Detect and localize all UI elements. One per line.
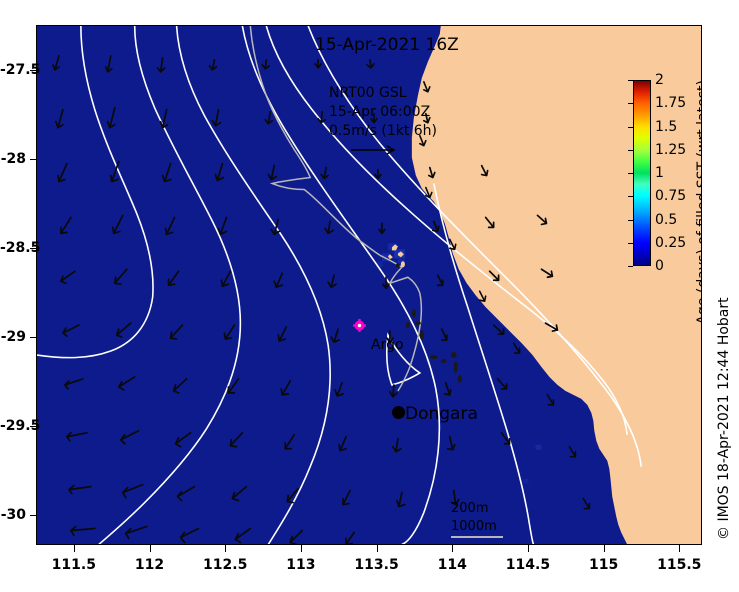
colorbar-tick-label: 1.25 [655,142,686,158]
x-axis-label: 115 [589,557,618,573]
colorbar-tick-label: 1.5 [655,119,677,135]
vector-legend-line-2: 15-Apr 06:00Z [329,103,437,122]
right-arrow-icon [349,143,409,157]
colorbar-tick-label: 0.25 [655,235,686,251]
depth-legend-200m: 200m [451,500,497,518]
x-axis-label: 112.5 [203,557,247,573]
y-axis-label: -29.5 [0,418,26,434]
colorbar-tick-label: 0.5 [655,212,677,228]
vector-legend-line-1: NRT00 GSL [329,84,437,103]
colorbar-tick [628,243,633,244]
colorbar-tick [628,80,633,81]
x-axis-tick [301,545,302,552]
colorbar-tick [628,220,633,221]
argo-label: Argo [371,337,404,353]
x-axis-tick [150,545,151,552]
city-dot-icon [392,406,405,419]
colorbar-tick-label: 1 [655,165,664,181]
colorbar-title: Age (days) of filled SST (wrt latest) [695,80,702,325]
colorbar-tick [628,150,633,151]
x-axis-tick [604,545,605,552]
x-axis-label: 114 [438,557,467,573]
vector-scale-legend: NRT00 GSL 15-Apr 06:00Z 0.5m/s (1kt 6h) [329,84,437,163]
map-page: 15-Apr-2021 16Z NRT00 GSL 15-Apr 06:00Z … [0,0,739,592]
colorbar-tick-label: 0.75 [655,188,686,204]
x-axis-label: 112 [135,557,164,573]
colorbar-tick [628,266,633,267]
colorbar-tick [628,127,633,128]
colorbar-tick [628,196,633,197]
y-axis-label: -28.5 [0,240,26,256]
x-axis-label: 113 [286,557,315,573]
y-axis-tick [30,159,37,160]
colorbar-tick [628,103,633,104]
dongara-label: Dongara [405,404,478,424]
argo-float-marker-icon [353,319,366,332]
y-axis-label: -28 [0,151,26,167]
credit-text: © IMOS 18-Apr-2021 12:44 Hobart [716,297,732,540]
x-axis-tick [528,545,529,552]
x-axis-tick [377,545,378,552]
map-plot-area[interactable]: 15-Apr-2021 16Z NRT00 GSL 15-Apr 06:00Z … [36,25,702,545]
x-axis-tick [452,545,453,552]
y-axis-label: -27.5 [0,62,26,78]
y-axis-label: -29 [0,329,26,345]
depth-contour-legend: 200m 1000m [451,500,497,536]
vector-legend-line-3: 0.5m/s (1kt 6h) [329,122,437,141]
colorbar-tick-label: 1.75 [655,95,686,111]
x-axis-tick [679,545,680,552]
colorbar-tick [628,173,633,174]
colorbar-tick-label: 0 [655,258,664,274]
x-axis-label: 113.5 [354,557,398,573]
depth-legend-rule [451,536,503,538]
y-axis-tick [30,337,37,338]
colorbar-gradient [633,80,651,266]
x-axis-label: 111.5 [52,557,96,573]
x-axis-tick [225,545,226,552]
y-axis-tick [30,515,37,516]
x-axis-tick [74,545,75,552]
depth-legend-1000m: 1000m [451,518,497,536]
colorbar-tick-label: 2 [655,72,664,88]
map-title: 15-Apr-2021 16Z [315,35,459,55]
x-axis-label: 114.5 [506,557,550,573]
x-axis-label: 115.5 [657,557,701,573]
y-axis-label: -30 [0,507,26,523]
